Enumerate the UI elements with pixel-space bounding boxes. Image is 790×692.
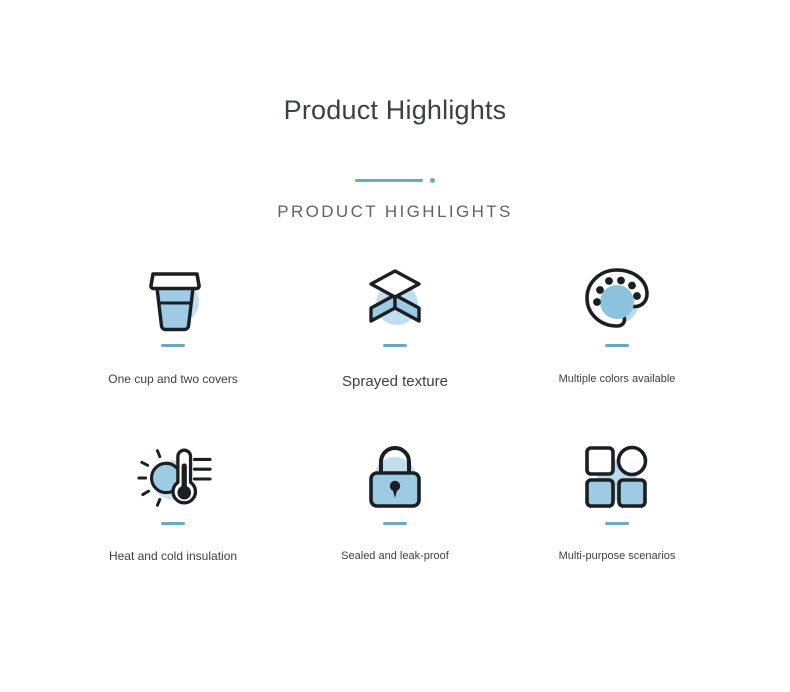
feature-label: Multiple colors available: [559, 372, 676, 386]
grid-squares-circle-icon: [577, 442, 657, 512]
divider-dot-icon: [430, 178, 435, 183]
feature-label: Multi-purpose scenarios: [559, 549, 676, 563]
feature-item-one-cup-and-two-covers[interactable]: One cup and two covers: [62, 264, 284, 442]
feature-item-sealed-and-leak-proof[interactable]: Sealed and leak-proof: [284, 442, 506, 620]
header-divider: [0, 175, 790, 185]
padlock-icon: [355, 442, 435, 512]
paint-palette-icon: [577, 264, 657, 334]
page-title: Product Highlights: [0, 94, 790, 126]
feature-rule: [383, 522, 407, 525]
feature-rule: [383, 344, 407, 347]
cube-box-icon: [355, 264, 435, 334]
feature-rule: [161, 522, 185, 525]
feature-item-sprayed-texture[interactable]: Sprayed texture: [284, 264, 506, 442]
feature-label: Sealed and leak-proof: [341, 549, 449, 563]
coffee-cup-icon: [133, 264, 213, 334]
feature-grid: One cup and two covers Sprayed texture: [0, 264, 790, 620]
page-subtitle: PRODUCT HIGHLIGHTS: [0, 202, 790, 222]
feature-rule: [605, 344, 629, 347]
page-header: Product Highlights PRODUCT HIGHLIGHTS: [0, 0, 790, 222]
feature-rule: [605, 522, 629, 525]
divider-bar-icon: [355, 179, 423, 182]
feature-label: Heat and cold insulation: [109, 549, 237, 565]
feature-label: Sprayed texture: [342, 372, 448, 392]
product-highlights-page: Product Highlights PRODUCT HIGHLIGHTS On…: [0, 0, 790, 692]
feature-item-heat-and-cold-insulation[interactable]: Heat and cold insulation: [62, 442, 284, 620]
feature-item-multi-purpose-scenarios[interactable]: Multi-purpose scenarios: [506, 442, 728, 620]
thermometer-sun-icon: [133, 442, 213, 512]
feature-rule: [161, 344, 185, 347]
feature-item-multiple-colors-available[interactable]: Multiple colors available: [506, 264, 728, 442]
feature-label: One cup and two covers: [108, 372, 237, 388]
